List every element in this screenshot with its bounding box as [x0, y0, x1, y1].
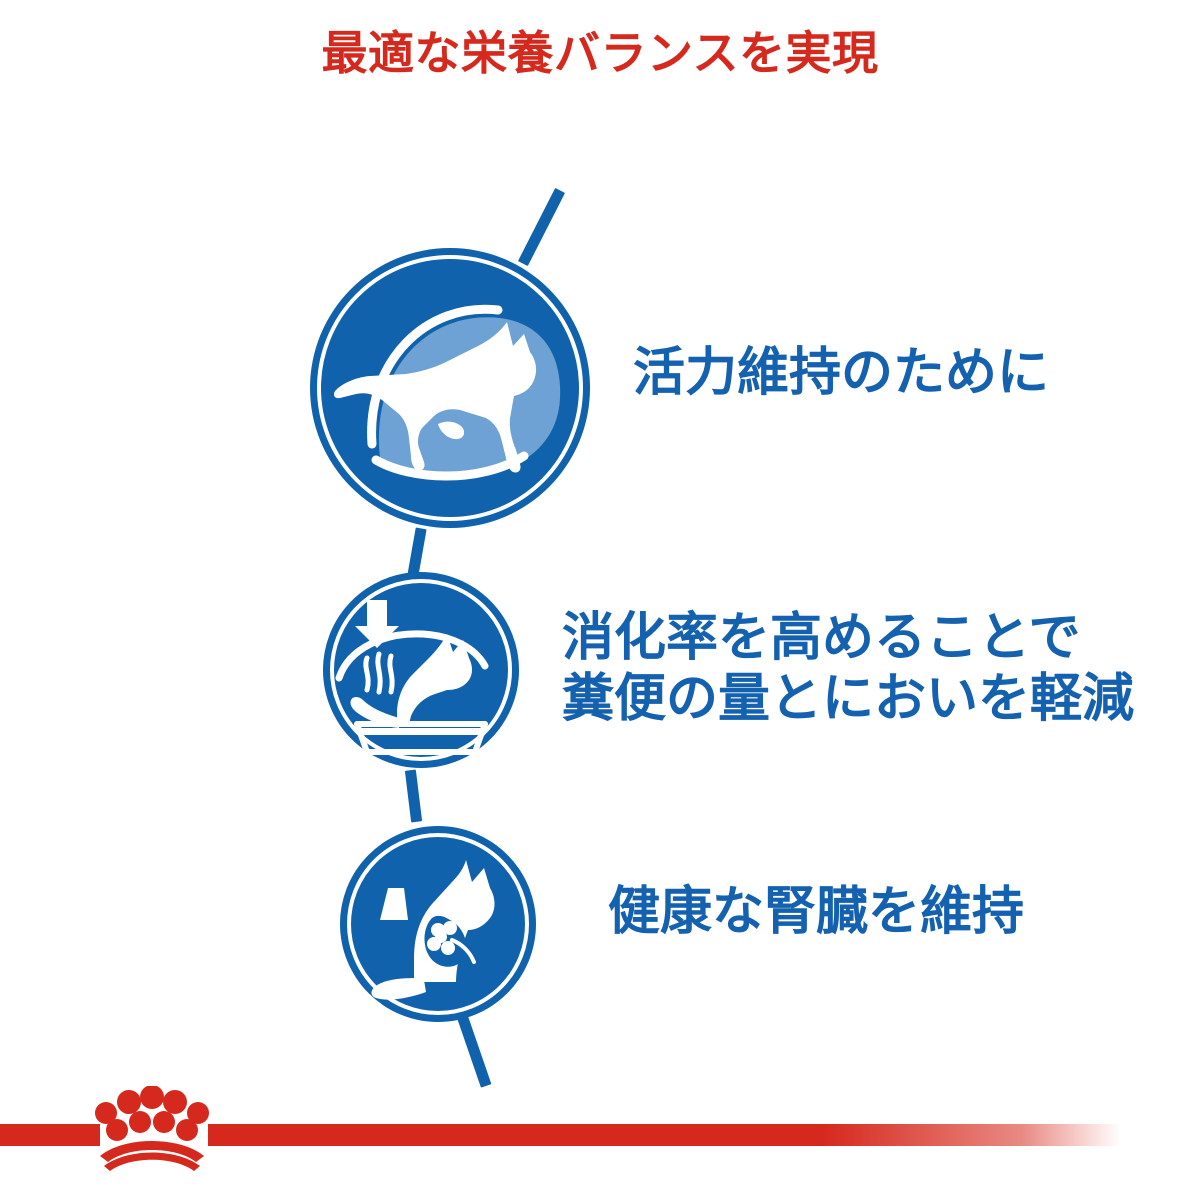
infographic-page: 最適な栄養バランスを実現 活力維持のために [0, 0, 1200, 1200]
royal-canin-crown-logo [84, 1086, 220, 1172]
benefit-label-digestibility: 消化率を高めることで 糞便の量とにおいを軽減 [562, 608, 1134, 731]
page-title: 最適な栄養バランスを実現 [0, 28, 1200, 79]
connector-dash-between-2-3 [405, 770, 422, 823]
cat-litter-box-arrow-icon [323, 572, 519, 768]
benefit-label-kidney: 健康な腎臓を維持 [608, 882, 1024, 943]
benefit-label-vitality: 活力維持のために [633, 343, 1049, 404]
footer-rule-right [208, 1124, 1200, 1146]
walking-cat-in-circle-icon [310, 248, 590, 528]
cat-kidney-icon [340, 826, 536, 1022]
